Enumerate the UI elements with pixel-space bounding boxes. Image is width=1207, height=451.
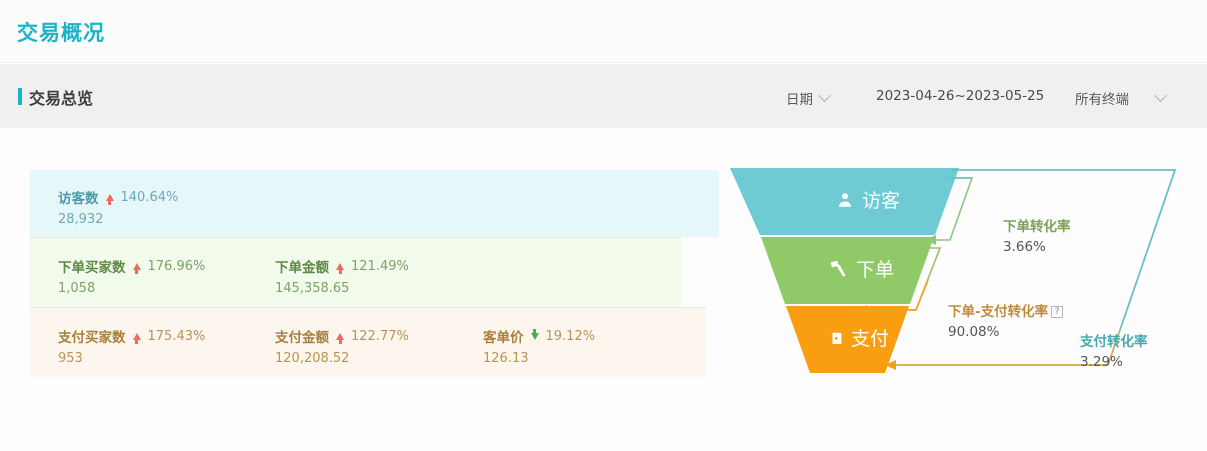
page-root: 交易概况 交易总览 日期 2023-04-26~2023-05-25 所有终端 … bbox=[0, 0, 1207, 451]
metric-label: 下单金额 bbox=[275, 256, 329, 276]
funnel-stage-label: 访客 bbox=[862, 186, 900, 213]
metric-order-amount: 下单金额 121.49% 145,358.65 bbox=[275, 256, 409, 296]
metric-value: 120,208.52 bbox=[275, 351, 409, 366]
metric-label: 支付金额 bbox=[275, 326, 329, 346]
terminal-filter-label: 所有终端 bbox=[1075, 88, 1129, 108]
conversion-label: 支付转化率 bbox=[1080, 330, 1148, 350]
metric-band-order: 下单买家数 176.96% 1,058 下单金额 121.49% 145,358… bbox=[30, 237, 681, 307]
date-filter-dropdown[interactable]: 日期 bbox=[786, 88, 829, 108]
funnel-stage-pay: 支付 bbox=[825, 324, 889, 351]
metric-label: 下单买家数 bbox=[58, 256, 126, 276]
section-accent-bar bbox=[18, 88, 22, 105]
metric-percent: 121.49% bbox=[351, 259, 409, 274]
conversion-label: 下单转化率 bbox=[1003, 215, 1071, 235]
metric-order-buyers: 下单买家数 176.96% 1,058 bbox=[58, 256, 205, 296]
metric-pay-buyers: 支付买家数 175.43% 953 bbox=[58, 326, 205, 366]
conversion-order-pay-rate: 下单-支付转化率? 90.08% bbox=[948, 300, 1063, 340]
metric-band-visitor: 访客数 140.64% 28,932 bbox=[30, 170, 719, 237]
metric-label: 访客数 bbox=[58, 187, 99, 207]
metric-percent: 19.12% bbox=[546, 329, 596, 344]
metric-percent: 122.77% bbox=[351, 329, 409, 344]
trend-up-icon bbox=[106, 194, 114, 201]
metric-percent: 140.64% bbox=[121, 190, 179, 205]
funnel-stage-visitor: 访客 bbox=[836, 186, 900, 213]
funnel-stage-label: 下单 bbox=[856, 255, 894, 282]
chevron-down-icon bbox=[818, 89, 831, 102]
conversion-value: 90.08% bbox=[948, 324, 1063, 340]
conversion-pay-rate: 支付转化率 3.29% bbox=[1080, 330, 1148, 370]
metric-unit-price: 客单价 19.12% 126.13 bbox=[483, 326, 595, 366]
hammer-icon bbox=[828, 259, 848, 279]
metric-percent: 176.96% bbox=[148, 259, 206, 274]
metric-value: 126.13 bbox=[483, 351, 595, 366]
metric-pay-amount: 支付金额 122.77% 120,208.52 bbox=[275, 326, 409, 366]
trend-up-icon bbox=[336, 263, 344, 270]
help-icon[interactable]: ? bbox=[1051, 306, 1063, 318]
trend-up-icon bbox=[133, 263, 141, 270]
metric-label: 支付买家数 bbox=[58, 326, 126, 346]
trend-up-icon bbox=[133, 333, 141, 340]
conversion-value: 3.66% bbox=[1003, 239, 1071, 255]
funnel-stage-order: 下单 bbox=[828, 255, 894, 282]
metric-label: 客单价 bbox=[483, 326, 524, 346]
conversion-label: 下单-支付转化率? bbox=[948, 300, 1063, 320]
metric-value: 1,058 bbox=[58, 281, 205, 296]
title-bar: 交易概况 bbox=[0, 0, 1207, 63]
metric-value: 28,932 bbox=[58, 212, 178, 227]
conversion-funnel-chart: 访客 下单 支付 下单转化率 3.66% 下单-支付转化率? 90.08% bbox=[720, 160, 1207, 395]
date-range-label: 2023-04-26~2023-05-25 bbox=[876, 88, 1044, 104]
wallet-icon bbox=[825, 329, 843, 347]
metric-value: 145,358.65 bbox=[275, 281, 409, 296]
user-icon bbox=[836, 191, 854, 209]
date-range-display[interactable]: 2023-04-26~2023-05-25 bbox=[876, 88, 1044, 104]
trend-down-icon bbox=[531, 333, 539, 340]
conversion-label-text: 下单-支付转化率 bbox=[948, 304, 1048, 320]
metric-visitor-count: 访客数 140.64% 28,932 bbox=[58, 187, 178, 227]
metric-band-pay: 支付买家数 175.43% 953 支付金额 122.77% 120,208.5… bbox=[30, 307, 706, 377]
conversion-value: 3.29% bbox=[1080, 354, 1148, 370]
funnel-stage-label: 支付 bbox=[851, 324, 889, 351]
date-filter-label: 日期 bbox=[786, 88, 813, 108]
metric-percent: 175.43% bbox=[148, 329, 206, 344]
page-title: 交易概况 bbox=[17, 17, 105, 47]
terminal-filter-dropdown[interactable]: 所有终端 bbox=[1075, 88, 1165, 108]
metric-value: 953 bbox=[58, 351, 205, 366]
conversion-order-rate: 下单转化率 3.66% bbox=[1003, 215, 1071, 255]
section-title: 交易总览 bbox=[29, 85, 93, 109]
trend-up-icon bbox=[336, 333, 344, 340]
chevron-down-icon bbox=[1154, 89, 1167, 102]
